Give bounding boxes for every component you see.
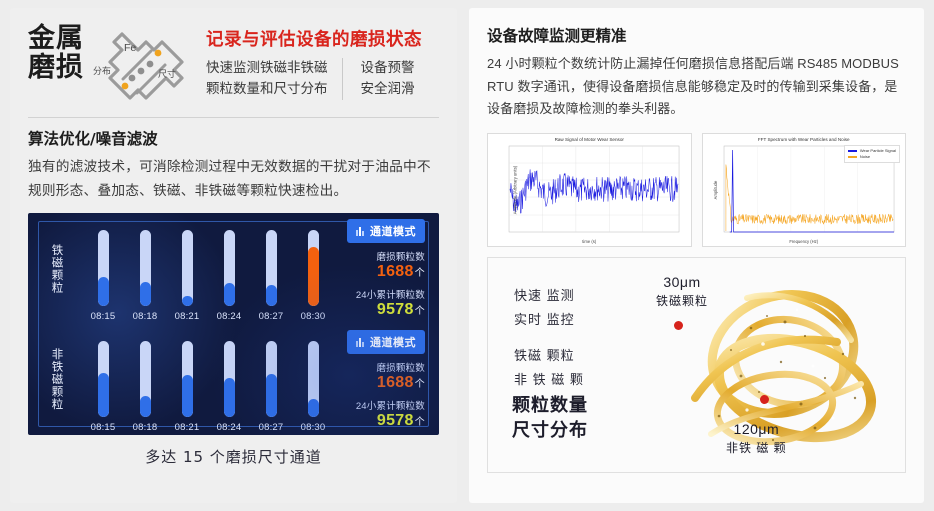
stat-wear-count-ferrous: 磨损颗粒数 1688个 bbox=[305, 249, 425, 281]
bar-time-label: 08:15 bbox=[91, 422, 116, 433]
illustration-line-3: 铁磁 颗粒 bbox=[514, 344, 584, 368]
bar-track bbox=[182, 341, 193, 417]
stat-label: 磨损颗粒数 bbox=[305, 249, 425, 263]
dashboard-row-nonferrous: 非铁磁颗粒 08:1508:1808:2108:2408:2708:30 通道模… bbox=[28, 324, 439, 435]
plot-ylabel: Amplitude (Arbitrary units) bbox=[513, 166, 518, 214]
left-header: 金属 磨损 Fe bbox=[28, 22, 439, 108]
legend-item: Noise bbox=[848, 154, 896, 160]
oil-particle-illustration: 快速 监测 实时 监控 铁磁 颗粒 非 铁 磁 颗 颗粒数量 尺寸分布 30μm… bbox=[487, 257, 906, 473]
bar-time-label: 08:24 bbox=[217, 422, 242, 433]
bar-item[interactable]: 08:27 bbox=[258, 230, 284, 322]
bar-time-label: 08:15 bbox=[91, 311, 116, 322]
legend-swatch bbox=[848, 156, 857, 157]
bar-fill bbox=[266, 374, 277, 417]
channel-mode-button-nonferrous[interactable]: 通道模式 bbox=[347, 330, 425, 354]
right-body: 24 小时颗粒个数统计防止漏掉任何磨损信息搭配后端 RS485 MODBUS R… bbox=[487, 53, 906, 121]
header-divider bbox=[28, 117, 439, 118]
bar-fill bbox=[308, 399, 319, 417]
bar-track bbox=[182, 230, 193, 306]
bar-item[interactable]: 08:30 bbox=[300, 341, 326, 433]
bar-track bbox=[98, 230, 109, 306]
feature-4: 安全润滑 bbox=[361, 79, 415, 100]
brand-logo-text: 金属 磨损 bbox=[28, 22, 84, 82]
right-title: 设备故障监测更精准 bbox=[487, 24, 906, 46]
channel-icon bbox=[356, 337, 366, 347]
bar-group-ferrous: 08:1508:1808:2108:2408:2708:30 bbox=[90, 213, 326, 326]
bar-time-label: 08:24 bbox=[217, 311, 242, 322]
stat-number: 9578 bbox=[377, 301, 414, 318]
bar-time-label: 08:18 bbox=[133, 422, 158, 433]
bar-fill bbox=[308, 247, 319, 306]
legend-swatch bbox=[848, 150, 857, 151]
bar-fill bbox=[224, 283, 235, 306]
feature-1: 快速监测铁磁非铁磁 bbox=[206, 58, 328, 79]
brand-line-2: 磨损 bbox=[28, 53, 84, 82]
particle-marker-120um bbox=[760, 395, 769, 404]
row-label-nonferrous: 非铁磁颗粒 bbox=[36, 337, 76, 423]
row-label-ferrous: 铁磁颗粒 bbox=[36, 226, 76, 312]
dashboard-caption: 多达 15 个磨损尺寸通道 bbox=[28, 446, 439, 467]
header-feature-columns: 快速监测铁磁非铁磁 颗粒数量和尺寸分布 设备预警 安全润滑 bbox=[206, 58, 422, 100]
stat-label: 24小累计颗粒数 bbox=[305, 287, 425, 301]
bar-time-label: 08:21 bbox=[175, 422, 200, 433]
bar-fill bbox=[140, 282, 151, 306]
bar-track bbox=[224, 341, 235, 417]
illustration-feature-list: 快速 监测 实时 监控 铁磁 颗粒 非 铁 磁 颗 bbox=[514, 284, 584, 392]
stat-label: 24小累计颗粒数 bbox=[305, 398, 425, 412]
headline-line-1: 颗粒数量 bbox=[512, 393, 588, 419]
bar-fill bbox=[266, 285, 277, 306]
bar-item[interactable]: 08:21 bbox=[174, 230, 200, 322]
stats-ferrous: 通道模式 磨损颗粒数 1688个 24小累计颗粒数 9578个 bbox=[305, 219, 425, 319]
stat-number: 9578 bbox=[377, 412, 414, 429]
signal-plots: Raw Signal of Motor Wear Sensor Amplitud… bbox=[487, 133, 906, 247]
stat-unit: 个 bbox=[415, 306, 425, 317]
annotation-120um: 120μm 非铁 磁 颗 bbox=[726, 421, 787, 456]
bar-fill bbox=[98, 277, 109, 306]
plot-ylabel: Amplitude bbox=[712, 181, 717, 200]
brand-line-1: 金属 bbox=[28, 24, 84, 53]
plot-legend: Wear Particle Signal Noise bbox=[844, 145, 900, 163]
stat-value: 1688个 bbox=[305, 263, 425, 281]
annotation-name: 铁磁颗粒 bbox=[656, 292, 708, 309]
plot-xlabel: time (s) bbox=[488, 239, 691, 244]
stat-wear-count-nonferrous: 磨损颗粒数 1688个 bbox=[305, 360, 425, 392]
plot-raw-signal: Raw Signal of Motor Wear Sensor Amplitud… bbox=[487, 133, 692, 247]
channel-mode-label: 通道模式 bbox=[370, 334, 416, 350]
list-spacer bbox=[514, 332, 584, 344]
legend-label: Noise bbox=[860, 154, 870, 160]
feature-2: 颗粒数量和尺寸分布 bbox=[206, 79, 328, 100]
headline-line-2: 尺寸分布 bbox=[512, 418, 588, 444]
bar-fill bbox=[224, 378, 235, 418]
particle-marker-30um bbox=[674, 321, 683, 330]
illustration-line-1: 快速 监测 bbox=[514, 284, 584, 308]
monitor-dashboard: 铁磁颗粒 08:1508:1808:2108:2408:2708:30 通道模式… bbox=[28, 213, 439, 435]
headline: 记录与评估设备的磨损状态 bbox=[206, 26, 422, 51]
annotation-size: 30μm bbox=[656, 274, 708, 290]
channel-mode-label: 通道模式 bbox=[370, 223, 416, 239]
logo-distribution-label: 分布 bbox=[93, 64, 111, 77]
stats-nonferrous: 通道模式 磨损颗粒数 1688个 24小累计颗粒数 9578个 bbox=[305, 330, 425, 430]
annotation-size: 120μm bbox=[726, 421, 787, 437]
page-root: 金属 磨损 Fe bbox=[0, 0, 934, 511]
annotation-30um: 30μm 铁磁颗粒 bbox=[656, 274, 708, 309]
plot-title: FFT Spectrum with Wear Particles and Noi… bbox=[703, 137, 906, 142]
dashboard-row-ferrous: 铁磁颗粒 08:1508:1808:2108:2408:2708:30 通道模式… bbox=[28, 213, 439, 324]
plot-title: Raw Signal of Motor Wear Sensor bbox=[488, 137, 691, 142]
bar-time-label: 08:21 bbox=[175, 311, 200, 322]
bar-time-label: 08:30 bbox=[301, 311, 326, 322]
channel-mode-button-ferrous[interactable]: 通道模式 bbox=[347, 219, 425, 243]
bar-item[interactable]: 08:24 bbox=[216, 341, 242, 433]
plot-fft-spectrum: FFT Spectrum with Wear Particles and Noi… bbox=[702, 133, 907, 247]
illustration-headline: 颗粒数量 尺寸分布 bbox=[512, 393, 588, 444]
bar-item[interactable]: 08:18 bbox=[132, 341, 158, 433]
wear-sensor-icon: Fe 分布 尺寸 bbox=[92, 22, 196, 108]
bar-time-label: 08:30 bbox=[301, 422, 326, 433]
bar-group-nonferrous: 08:1508:1808:2108:2408:2708:30 bbox=[90, 322, 326, 435]
plot-xlabel: Frequency (Hz) bbox=[703, 239, 906, 244]
stat-number: 1688 bbox=[377, 374, 414, 391]
bar-fill bbox=[98, 373, 109, 417]
bar-time-label: 08:18 bbox=[133, 311, 158, 322]
header-texts: 记录与评估设备的磨损状态 快速监测铁磁非铁磁 颗粒数量和尺寸分布 设备预警 安全… bbox=[206, 22, 422, 100]
stat-unit: 个 bbox=[415, 379, 425, 390]
annotation-name: 非铁 磁 颗 bbox=[726, 439, 787, 456]
feature-column-left: 快速监测铁磁非铁磁 颗粒数量和尺寸分布 bbox=[206, 58, 343, 100]
stat-value: 9578个 bbox=[305, 301, 425, 319]
right-panel: 设备故障监测更精准 24 小时颗粒个数统计防止漏掉任何磨损信息搭配后端 RS48… bbox=[469, 8, 924, 503]
plot-canvas bbox=[488, 134, 691, 246]
bar-time-label: 08:27 bbox=[259, 422, 284, 433]
stat-value: 1688个 bbox=[305, 374, 425, 392]
stat-label: 磨损颗粒数 bbox=[305, 360, 425, 374]
stat-value: 9578个 bbox=[305, 412, 425, 430]
channel-icon bbox=[356, 226, 366, 236]
bar-track bbox=[140, 230, 151, 306]
bar-track bbox=[98, 341, 109, 417]
bar-fill bbox=[182, 375, 193, 417]
logo-size-label: 尺寸 bbox=[158, 67, 176, 80]
stat-unit: 个 bbox=[415, 268, 425, 279]
logo-fe-label: Fe bbox=[124, 42, 136, 54]
bar-fill bbox=[140, 396, 151, 417]
bar-time-label: 08:27 bbox=[259, 311, 284, 322]
bar-item[interactable]: 08:24 bbox=[216, 230, 242, 322]
bar-track bbox=[140, 341, 151, 417]
bar-fill bbox=[182, 296, 193, 306]
feature-column-right: 设备预警 安全润滑 bbox=[343, 58, 415, 100]
stat-24h-count-ferrous: 24小累计颗粒数 9578个 bbox=[305, 287, 425, 319]
stat-number: 1688 bbox=[377, 263, 414, 280]
bar-item[interactable]: 08:21 bbox=[174, 341, 200, 433]
bar-item[interactable]: 08:27 bbox=[258, 341, 284, 433]
left-panel: 金属 磨损 Fe bbox=[10, 8, 457, 503]
section-body: 独有的滤波技术，可消除检测过程中无效数据的干扰对于油品中不规则形态、叠加态、铁磁… bbox=[28, 155, 439, 202]
illustration-line-4: 非 铁 磁 颗 bbox=[514, 368, 584, 392]
bar-track bbox=[224, 230, 235, 306]
bar-item[interactable]: 08:18 bbox=[132, 230, 158, 322]
stat-unit: 个 bbox=[415, 417, 425, 428]
bar-item[interactable]: 08:15 bbox=[90, 230, 116, 322]
feature-3: 设备预警 bbox=[361, 58, 415, 79]
bar-item[interactable]: 08:15 bbox=[90, 341, 116, 433]
bar-track bbox=[266, 341, 277, 417]
stat-24h-count-nonferrous: 24小累计颗粒数 9578个 bbox=[305, 398, 425, 430]
bar-track bbox=[266, 230, 277, 306]
illustration-line-2: 实时 监控 bbox=[514, 308, 584, 332]
bar-track bbox=[308, 341, 319, 417]
section-title: 算法优化/噪音滤波 bbox=[28, 127, 439, 149]
